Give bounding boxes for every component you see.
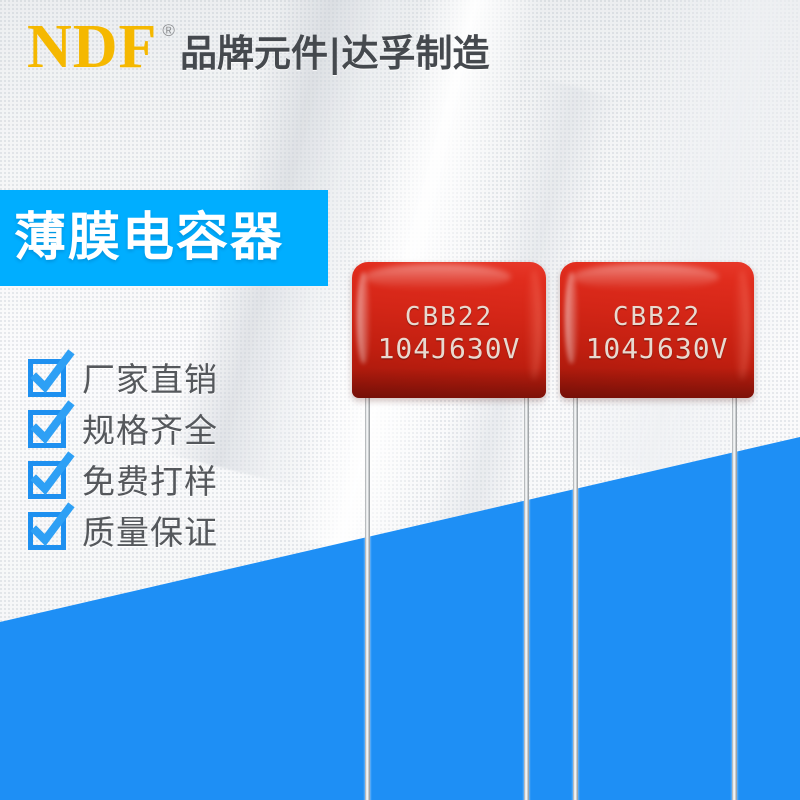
checkbox-checked-icon xyxy=(28,411,68,451)
brand-logo: NDF ® xyxy=(27,16,175,78)
capacitor-body: CBB22 104J630V xyxy=(560,262,754,398)
brand-tagline: 品牌元件|达孚制造 xyxy=(180,33,490,75)
feature-label: 厂家直销 xyxy=(82,361,218,399)
capacitor-right: CBB22 104J630V xyxy=(560,262,754,582)
logo-text: NDF xyxy=(27,16,157,78)
checkbox-checked-icon xyxy=(28,360,68,400)
capacitor-highlight xyxy=(364,264,511,290)
checkbox-checked-icon xyxy=(28,462,68,502)
checkbox-checked-icon xyxy=(28,513,68,553)
capacitor-series-text: CBB22 xyxy=(352,302,546,333)
feature-label: 免费打样 xyxy=(82,463,218,501)
list-item: 质量保证 xyxy=(28,509,218,556)
list-item: 免费打样 xyxy=(28,458,218,505)
list-item: 规格齐全 xyxy=(28,407,218,454)
capacitor-rating-text: 104J630V xyxy=(560,333,754,364)
feature-label: 规格齐全 xyxy=(82,412,218,450)
registered-trademark-icon: ® xyxy=(162,22,175,39)
feature-list: 厂家直销 规格齐全 免费打样 xyxy=(28,356,218,560)
product-category-banner: 薄膜电容器 xyxy=(0,190,328,286)
capacitor-rating-text: 104J630V xyxy=(352,333,546,364)
capacitor-body: CBB22 104J630V xyxy=(352,262,546,398)
capacitor-lead xyxy=(573,392,578,800)
capacitor-series-text: CBB22 xyxy=(560,302,754,333)
capacitor-lead xyxy=(365,392,370,800)
header: NDF ® 品牌元件|达孚制造 xyxy=(0,0,800,95)
capacitor-marking: CBB22 104J630V xyxy=(352,302,546,364)
product-banner-image: NDF ® 品牌元件|达孚制造 薄膜电容器 厂家直销 xyxy=(0,0,800,800)
capacitor-marking: CBB22 104J630V xyxy=(560,302,754,364)
product-category-label: 薄膜电容器 xyxy=(14,210,284,266)
capacitor-shading xyxy=(352,368,546,398)
list-item: 厂家直销 xyxy=(28,356,218,403)
capacitor-lead xyxy=(524,392,529,800)
feature-label: 质量保证 xyxy=(82,514,218,552)
capacitor-left: CBB22 104J630V xyxy=(352,262,546,582)
capacitor-highlight xyxy=(572,264,719,290)
capacitor-lead xyxy=(732,392,737,800)
capacitor-shading xyxy=(560,368,754,398)
